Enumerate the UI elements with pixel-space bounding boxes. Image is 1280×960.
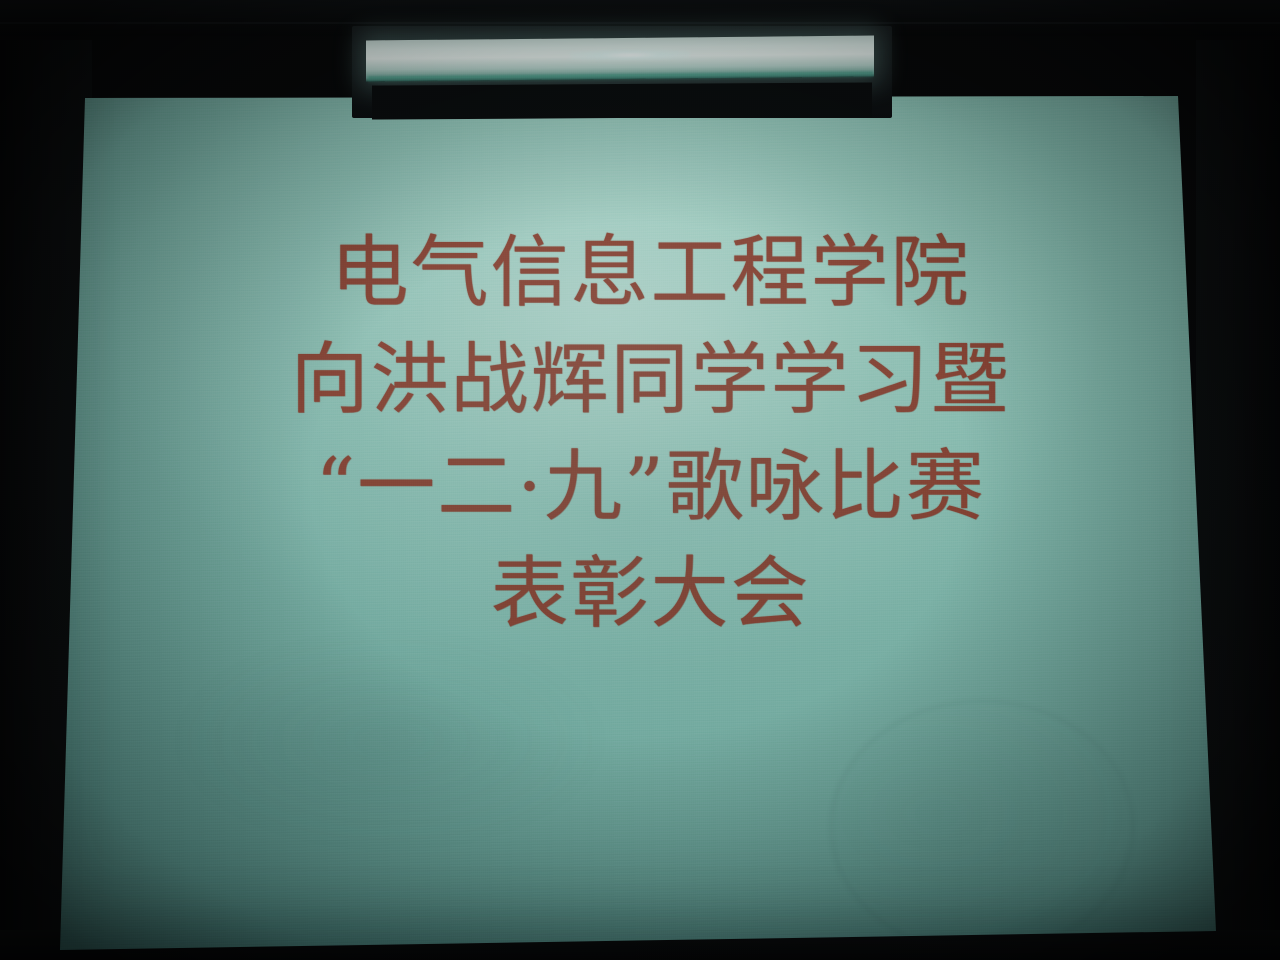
- slide-text-block: 电气信息工程学院 向洪战辉同学学习暨 “一二·九”歌咏比赛 表彰大会: [85, 98, 1216, 938]
- slide-line-1: 电气信息工程学院: [330, 220, 970, 327]
- slide-line-3: “一二·九”歌咏比赛: [315, 434, 986, 541]
- photo-canvas: 电气信息工程学院 向洪战辉同学学习暨 “一二·九”歌咏比赛 表彰大会: [0, 0, 1280, 960]
- projector-housing-shadow: [372, 82, 872, 119]
- ceiling-seam: [0, 22, 1280, 24]
- light-bar-glint: [570, 49, 690, 60]
- slide-line-4: 表彰大会: [490, 541, 810, 648]
- slide-line-2: 向洪战辉同学学习暨: [290, 327, 1010, 434]
